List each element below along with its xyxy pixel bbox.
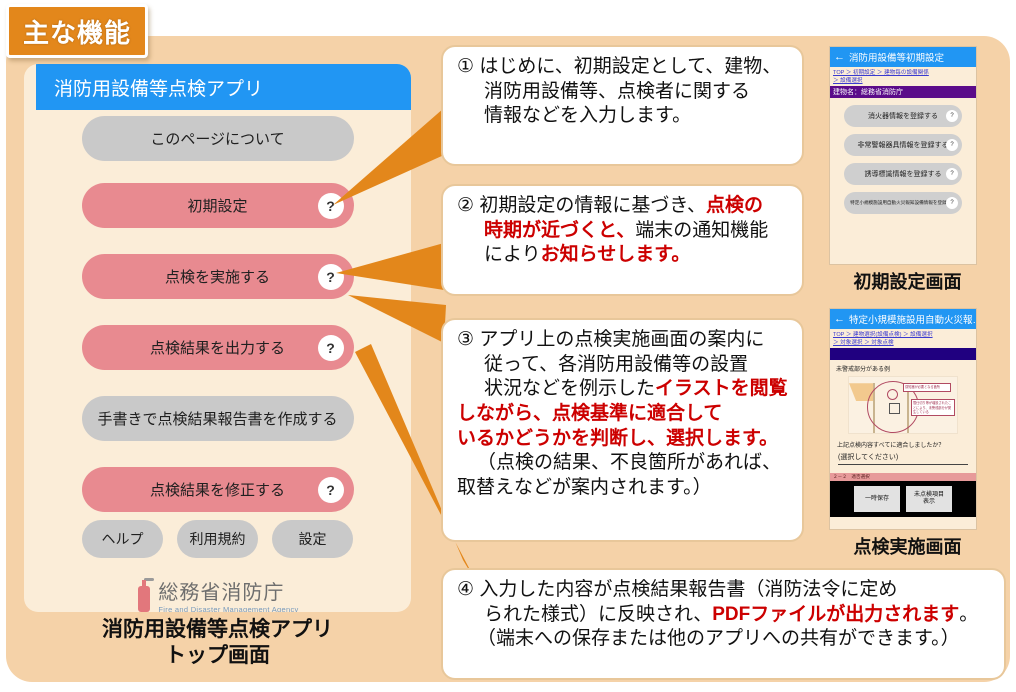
callout-text-emph: イラストを閲覧: [655, 378, 788, 399]
callout-1: ① はじめに、初期設定として、建物、 消防用設備等、点検者に関する 情報などを入…: [441, 45, 804, 166]
callout-text-emph: いるかどうかを判断し、選択します。: [457, 428, 778, 449]
header-tab: 主な機能: [6, 4, 148, 58]
callout-text: アプリ上の点検実施画面の案内に: [479, 329, 764, 350]
callout-number: ①: [457, 56, 474, 77]
callout-text: はじめに、初期設定として、建物、: [479, 56, 781, 77]
callout-3: ③ アプリ上の点検実施画面の案内に 従って、各消防用設備等の設置 状況などを例示…: [441, 318, 804, 542]
callout-number: ④: [457, 579, 474, 600]
callout-text: （点検の結果、不良箇所があれば、: [477, 452, 781, 473]
callout-text: 従って、各消防用設備等の設置: [484, 354, 748, 375]
callout-text-emph: しながら、点検基準に適合して: [457, 403, 722, 424]
callout-text-emph: 点検の: [706, 195, 763, 216]
callout-text: 状況などを例示した: [484, 378, 655, 399]
callout-text-emph: お知らせします。: [541, 244, 691, 265]
callout-text: 端末の通知機能: [635, 220, 768, 241]
callout-number: ②: [457, 195, 474, 216]
callout-text: られた様式）に反映され、: [484, 604, 712, 625]
callout-text: により: [484, 244, 541, 265]
callout-text-emph: PDFファイルが出力されます: [712, 604, 959, 625]
callout-number: ③: [457, 329, 474, 350]
callout-text: 入力した内容が点検結果報告書（消防法令に定め: [479, 579, 897, 600]
callout-2: ② 初期設定の情報に基づき、点検の 時期が近づくと、端末の通知機能 によりお知ら…: [441, 184, 804, 296]
callout-text: 取替えなどが案内されます。）: [457, 477, 712, 498]
callout-text: （端末への保存または他のアプリへの共有ができます。）: [477, 628, 960, 649]
callout-text: 。: [959, 604, 978, 625]
callout-text-emph: 時期が近づくと、: [484, 220, 635, 241]
header-tab-label: 主な機能: [23, 13, 131, 50]
callout-4: ④ 入力した内容が点検結果報告書（消防法令に定め られた様式）に反映され、PDF…: [441, 568, 1006, 680]
callout-text: 情報などを入力します。: [484, 105, 691, 126]
callout-text: 初期設定の情報に基づき、: [479, 195, 706, 216]
callout-text: 消防用設備等、点検者に関する: [484, 81, 750, 102]
